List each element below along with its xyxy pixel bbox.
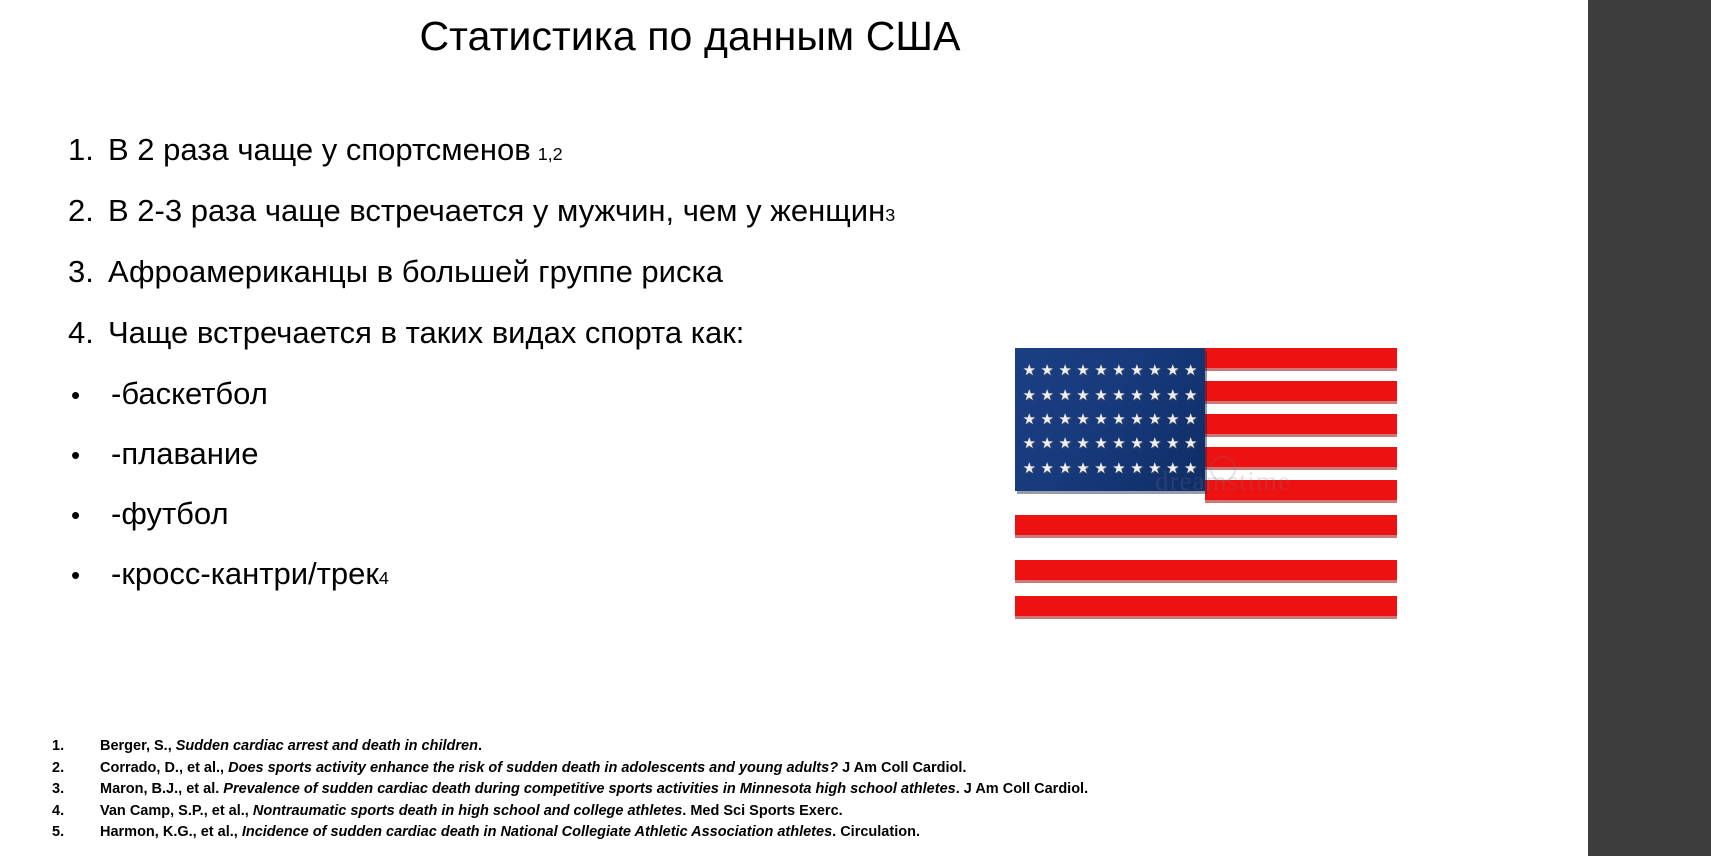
- star-icon: ★: [1094, 388, 1107, 403]
- star-icon: ★: [1130, 412, 1143, 427]
- flag-star-row: ★★★★★★★★★★: [1015, 461, 1205, 476]
- reference-item: 5.Harmon, K.G., et al., Incidence of sud…: [52, 822, 1502, 844]
- star-icon: ★: [1130, 363, 1143, 378]
- reference-item: 1.Berger, S., Sudden cardiac arrest and …: [52, 736, 1502, 758]
- star-icon: ★: [1148, 412, 1161, 427]
- reference-journal: .: [478, 738, 482, 754]
- star-icon: ★: [1184, 436, 1197, 451]
- star-icon: ★: [1094, 363, 1107, 378]
- star-icon: ★: [1094, 412, 1107, 427]
- star-icon: ★: [1184, 412, 1197, 427]
- list-number: 2.: [68, 195, 108, 226]
- reference-authors: Maron, B.J., et al.: [100, 781, 219, 797]
- star-icon: ★: [1184, 363, 1197, 378]
- star-icon: ★: [1148, 363, 1161, 378]
- reference-authors: Corrado, D., et al.,: [100, 760, 224, 776]
- reference-item: 4.Van Camp, S.P., et al., Nontraumatic s…: [52, 801, 1502, 823]
- star-icon: ★: [1166, 436, 1179, 451]
- reference-text: Maron, B.J., et al. Prevalence of sudden…: [100, 779, 1088, 801]
- reference-item: 2.Corrado, D., et al., Does sports activ…: [52, 758, 1502, 780]
- star-icon: ★: [1184, 461, 1197, 476]
- flag-graphic: ★★★★★★★★★★★★★★★★★★★★★★★★★★★★★★★★★★★★★★★★…: [1015, 338, 1397, 616]
- star-icon: ★: [1058, 388, 1071, 403]
- reference-journal: . J Am Coll Cardiol.: [956, 781, 1088, 797]
- list-item-label: В 2-3 раза чаще встречается у мужчин, че…: [108, 195, 885, 226]
- list-item: •-баскетбол: [68, 378, 1098, 409]
- reference-authors: Berger, S.,: [100, 738, 172, 754]
- reference-title: Nontraumatic sports death in high school…: [253, 803, 682, 819]
- numbered-list-item: 3.Афроамериканцы в большей группе риска: [68, 256, 1098, 287]
- reference-title: Incidence of sudden cardiac death in Nat…: [242, 824, 832, 840]
- star-icon: ★: [1166, 388, 1179, 403]
- flag-stripe: [1015, 596, 1397, 616]
- list-item-label: -баскетбол: [111, 378, 268, 409]
- reference-journal: . Circulation.: [832, 824, 920, 840]
- star-icon: ★: [1040, 436, 1053, 451]
- list-item-label: Чаще встречается в таких видах спорта ка…: [108, 317, 744, 348]
- reference-authors: Harmon, K.G., et al.,: [100, 824, 238, 840]
- star-icon: ★: [1022, 436, 1035, 451]
- main-content-list: 1.В 2 раза чаще у спортсменов1,22.В 2-3 …: [68, 134, 1098, 618]
- reference-item: 3.Maron, B.J., et al. Prevalence of sudd…: [52, 779, 1502, 801]
- bullet-marker-icon: •: [68, 442, 111, 468]
- star-icon: ★: [1022, 388, 1035, 403]
- star-icon: ★: [1022, 412, 1035, 427]
- star-icon: ★: [1112, 363, 1125, 378]
- flag-stripe: [1015, 560, 1397, 580]
- star-icon: ★: [1130, 461, 1143, 476]
- slide-surface: Статистика по данным США 1.В 2 раза чаще…: [0, 0, 1588, 856]
- reference-title: Prevalence of sudden cardiac death durin…: [223, 781, 955, 797]
- star-icon: ★: [1076, 412, 1089, 427]
- star-icon: ★: [1076, 461, 1089, 476]
- star-icon: ★: [1148, 436, 1161, 451]
- list-item-label: -футбол: [111, 498, 229, 529]
- slide-viewer: Статистика по данным США 1.В 2 раза чаще…: [0, 0, 1711, 856]
- star-icon: ★: [1148, 461, 1161, 476]
- star-icon: ★: [1130, 436, 1143, 451]
- star-icon: ★: [1040, 388, 1053, 403]
- star-icon: ★: [1094, 436, 1107, 451]
- bullet-marker-icon: •: [68, 502, 111, 528]
- star-icon: ★: [1058, 461, 1071, 476]
- reference-text: Harmon, K.G., et al., Incidence of sudde…: [100, 822, 920, 844]
- flag-star-row: ★★★★★★★★★★: [1015, 412, 1205, 427]
- list-item: •-плавание: [68, 438, 1098, 469]
- reference-authors: Van Camp, S.P., et al.,: [100, 803, 249, 819]
- reference-journal: . Med Sci Sports Exerc.: [682, 803, 842, 819]
- reference-text: Van Camp, S.P., et al., Nontraumatic spo…: [100, 801, 843, 823]
- star-icon: ★: [1130, 388, 1143, 403]
- list-item-label: Афроамериканцы в большей группе риска: [108, 256, 723, 287]
- list-item-label: В 2 раза чаще у спортсменов: [108, 134, 531, 165]
- page-title: Статистика по данным США: [0, 12, 1380, 60]
- bullet-marker-icon: •: [68, 382, 111, 408]
- numbered-list-item: 1.В 2 раза чаще у спортсменов1,2: [68, 134, 1098, 165]
- list-number: 4.: [68, 317, 108, 348]
- flag-canton: ★★★★★★★★★★★★★★★★★★★★★★★★★★★★★★★★★★★★★★★★…: [1015, 348, 1205, 491]
- star-icon: ★: [1022, 461, 1035, 476]
- flag-star-row: ★★★★★★★★★★: [1015, 436, 1205, 451]
- reference-text: Corrado, D., et al., Does sports activit…: [100, 758, 966, 780]
- reference-number: 2.: [52, 758, 100, 780]
- reference-number: 4.: [52, 801, 100, 823]
- reference-number: 3.: [52, 779, 100, 801]
- reference-title: Sudden cardiac arrest and death in child…: [176, 738, 478, 754]
- flag-stripe: [1205, 348, 1397, 368]
- star-icon: ★: [1076, 363, 1089, 378]
- star-icon: ★: [1166, 412, 1179, 427]
- star-icon: ★: [1040, 363, 1053, 378]
- list-item: •-кросс-кантри/трек4: [68, 558, 1098, 589]
- reference-text: Berger, S., Sudden cardiac arrest and de…: [100, 736, 482, 758]
- star-icon: ★: [1184, 388, 1197, 403]
- star-icon: ★: [1040, 412, 1053, 427]
- list-item-label: -плавание: [111, 438, 258, 469]
- star-icon: ★: [1166, 461, 1179, 476]
- star-icon: ★: [1094, 461, 1107, 476]
- watermark-circle-icon: [1210, 456, 1236, 482]
- star-icon: ★: [1058, 363, 1071, 378]
- flag-stripe: [1205, 480, 1397, 500]
- flag-stripe: [1205, 414, 1397, 434]
- usa-flag-image: ★★★★★★★★★★★★★★★★★★★★★★★★★★★★★★★★★★★★★★★★…: [1015, 338, 1397, 616]
- star-icon: ★: [1112, 388, 1125, 403]
- right-side-panel: [1588, 0, 1711, 856]
- star-icon: ★: [1112, 461, 1125, 476]
- star-icon: ★: [1040, 461, 1053, 476]
- star-icon: ★: [1022, 363, 1035, 378]
- star-icon: ★: [1058, 436, 1071, 451]
- flag-star-row: ★★★★★★★★★★: [1015, 388, 1205, 403]
- numbered-list-item: 2.В 2-3 раза чаще встречается у мужчин, …: [68, 195, 1098, 226]
- list-item-label: -кросс-кантри/трек: [111, 558, 379, 589]
- bullet-marker-icon: •: [68, 562, 111, 588]
- star-icon: ★: [1076, 436, 1089, 451]
- star-icon: ★: [1166, 363, 1179, 378]
- flag-stripe: [1205, 381, 1397, 401]
- flag-star-row: ★★★★★★★★★★: [1015, 363, 1205, 378]
- list-number: 1.: [68, 134, 108, 165]
- reference-number: 5.: [52, 822, 100, 844]
- numbered-list-item: 4.Чаще встречается в таких видах спорта …: [68, 317, 1098, 348]
- star-icon: ★: [1076, 388, 1089, 403]
- star-icon: ★: [1112, 412, 1125, 427]
- references-list: 1.Berger, S., Sudden cardiac arrest and …: [52, 736, 1502, 844]
- list-number: 3.: [68, 256, 108, 287]
- star-icon: ★: [1148, 388, 1161, 403]
- list-item: •-футбол: [68, 498, 1098, 529]
- reference-journal: J Am Coll Cardiol.: [838, 760, 966, 776]
- reference-title: Does sports activity enhance the risk of…: [228, 760, 838, 776]
- reference-number: 1.: [52, 736, 100, 758]
- star-icon: ★: [1058, 412, 1071, 427]
- flag-stripe: [1015, 515, 1397, 535]
- star-icon: ★: [1112, 436, 1125, 451]
